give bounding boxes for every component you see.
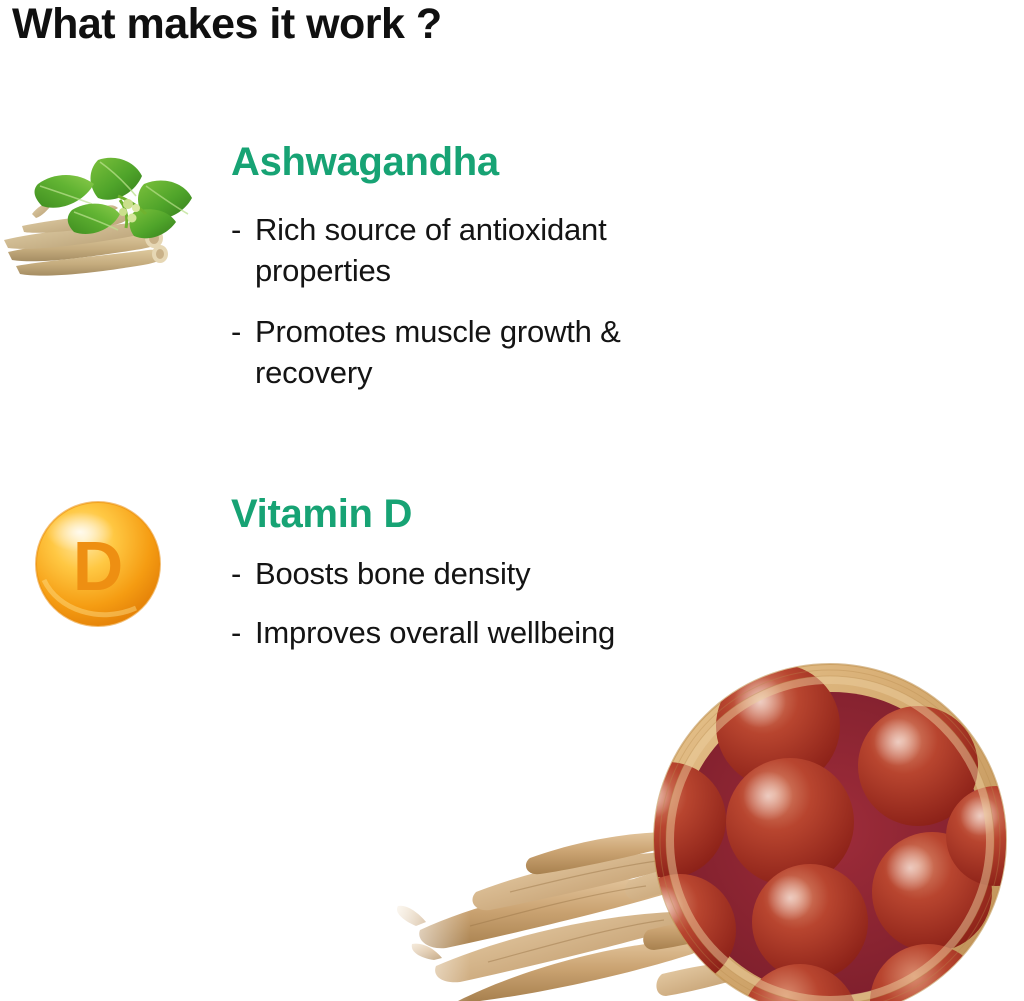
section-heading-vitamin-d: Vitamin D [231,492,412,537]
vitamin-d-softgel-icon: D [28,498,168,630]
ashwagandha-root-icon [2,148,207,298]
vitamin-d-softgel-icon-svg: D [28,498,168,630]
vitamin-d-letter: D [73,527,124,605]
bullet-dash: - [231,554,255,595]
ashwagandha-roots-and-gummies-bowl-photo [380,630,1024,1001]
infographic-page: What makes it work ? Ashwagandha - Rich … [0,0,1024,1001]
bullet-dash: - [231,613,255,654]
bullet-text: Promotes muscle growth & recovery [255,312,731,394]
list-item: - Rich source of antioxidant properties [231,210,731,292]
bullet-text: Boosts bone density [255,554,615,595]
bullet-text: Rich source of antioxidant properties [255,210,731,292]
bullet-dash: - [231,210,255,251]
section-heading-ashwagandha: Ashwagandha [231,140,499,185]
list-item: - Boosts bone density [231,554,615,595]
list-item: - Promotes muscle growth & recovery [231,312,731,394]
ashwagandha-root-icon-svg [2,148,207,298]
bullet-dash: - [231,312,255,353]
page-title: What makes it work ? [12,2,442,47]
product-photo-svg [380,630,1024,1001]
bullet-list-ashwagandha: - Rich source of antioxidant properties … [231,210,731,414]
